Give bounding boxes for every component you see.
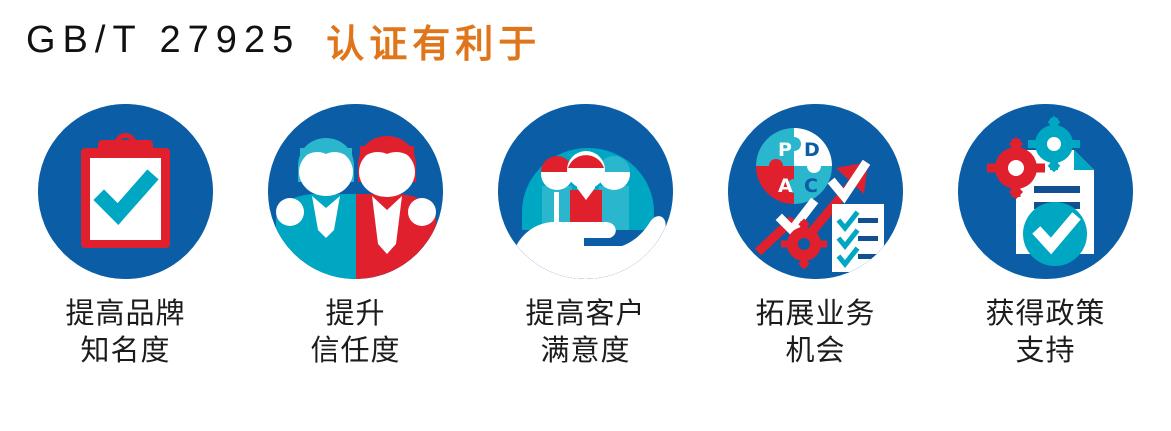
benefit-label-policy-support: 获得政策 支持: [985, 295, 1105, 368]
clipboard-check-icon: [38, 104, 213, 279]
benefits-row: 提高品牌 知名度: [0, 104, 1171, 424]
pdca-growth-chart-icon: P D A C: [728, 104, 903, 279]
benefit-item-trust[interactable]: 提升 信任度: [248, 104, 463, 368]
benefit-label-business-opportunity: 拓展业务 机会: [755, 295, 875, 368]
document-gears-check-icon: [958, 104, 1133, 279]
benefit-item-brand-awareness[interactable]: 提高品牌 知名度: [18, 104, 233, 368]
benefit-item-business-opportunity[interactable]: P D A C: [708, 104, 923, 368]
hand-holding-people-icon: [498, 104, 673, 279]
title-suffix-text: 认证有利于: [326, 13, 541, 68]
benefit-label-trust: 提升 信任度: [310, 295, 400, 368]
pdca-d-letter: D: [804, 139, 820, 161]
pdca-p-letter: P: [778, 139, 792, 161]
benefit-label-customer-satisfaction: 提高客户 满意度: [525, 295, 645, 368]
benefit-item-customer-satisfaction[interactable]: 提高客户 满意度: [478, 104, 693, 368]
benefit-label-brand-awareness: 提高品牌 知名度: [65, 295, 185, 368]
page-title: GB/T 27925 认证有利于: [26, 12, 1126, 68]
two-businessmen-icon: [268, 104, 443, 279]
standard-code-text: GB/T 27925: [26, 19, 300, 62]
pdca-a-letter: A: [778, 175, 793, 197]
pdca-c-letter: C: [804, 175, 818, 197]
benefit-item-policy-support[interactable]: 获得政策 支持: [938, 104, 1153, 368]
